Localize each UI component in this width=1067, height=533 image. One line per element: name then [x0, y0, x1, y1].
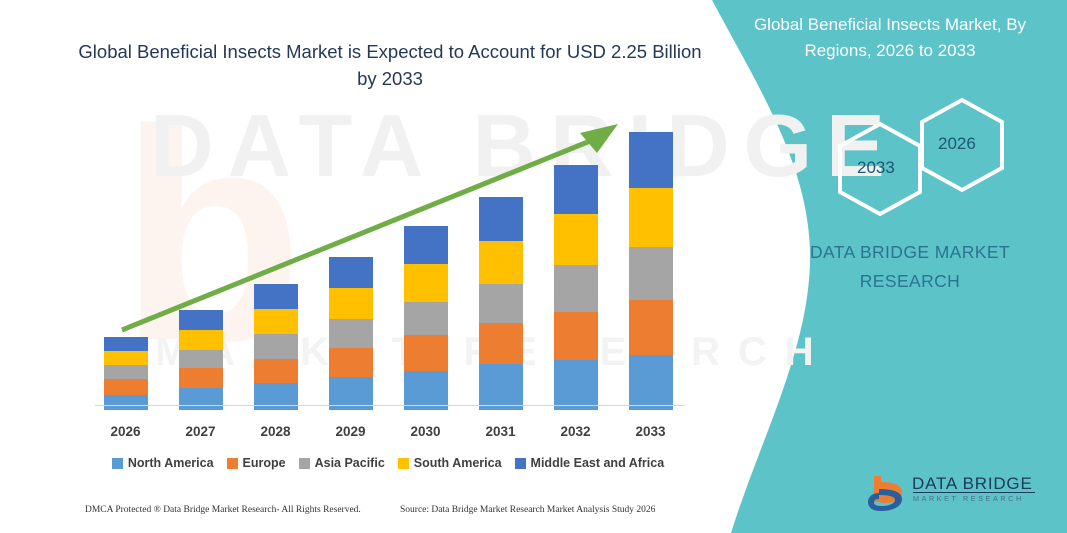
bar-segment — [629, 355, 673, 410]
bar-segment — [404, 302, 448, 336]
bar-segment — [104, 395, 148, 410]
bar-segment — [329, 288, 373, 319]
chart-legend: North AmericaEuropeAsia PacificSouth Ame… — [88, 456, 688, 470]
legend-item[interactable]: North America — [112, 456, 214, 470]
logo-title: DATA BRIDGE — [912, 474, 1033, 494]
bar-segment — [479, 284, 523, 323]
bar-segment — [104, 337, 148, 351]
legend-swatch-icon — [227, 458, 238, 469]
bar-segment — [554, 214, 598, 266]
bar-column — [479, 197, 523, 410]
bar-segment — [104, 379, 148, 394]
chart-axis-line — [95, 405, 685, 406]
legend-item[interactable]: Asia Pacific — [299, 456, 385, 470]
bar-segment — [104, 351, 148, 365]
bar-segment — [404, 226, 448, 264]
bar-segment — [404, 335, 448, 370]
bar-segment — [479, 364, 523, 410]
bar-column — [329, 257, 373, 410]
hexagon-shapes — [820, 96, 1040, 221]
bar-segment — [254, 309, 298, 334]
bar-segment — [329, 348, 373, 378]
bar-column — [179, 310, 223, 410]
x-axis-label: 2031 — [471, 424, 531, 439]
hexagon-label-2026: 2026 — [938, 134, 976, 154]
bar-column — [554, 165, 598, 411]
legend-label: Middle East and Africa — [531, 456, 665, 470]
legend-label: Europe — [243, 456, 286, 470]
bar-column — [629, 132, 673, 410]
infographic-canvas: b DATA BRIDGE MARKET RESEARCH Global Ben… — [0, 0, 1067, 533]
bar-segment — [179, 388, 223, 410]
company-logo: DATA BRIDGE MARKET RESEARCH — [866, 472, 1041, 518]
bar-segment — [554, 265, 598, 312]
footer: DMCA Protected ® Data Bridge Market Rese… — [0, 505, 710, 525]
bar-segment — [554, 312, 598, 359]
bar-segment — [179, 350, 223, 369]
bar-segment — [254, 284, 298, 309]
legend-label: North America — [128, 456, 214, 470]
logo-subtitle: MARKET RESEARCH — [913, 494, 1024, 503]
legend-item[interactable]: Middle East and Africa — [515, 456, 665, 470]
bar-segment — [179, 368, 223, 388]
x-axis-label: 2027 — [171, 424, 231, 439]
footer-source: Source: Data Bridge Market Research Mark… — [400, 505, 655, 515]
brand-line-1: DATA BRIDGE MARKET — [810, 242, 1010, 262]
bar-column — [404, 226, 448, 410]
legend-swatch-icon — [515, 458, 526, 469]
logo-divider — [913, 492, 1035, 493]
hexagon-group: 2026 2033 — [820, 96, 1040, 221]
bar-segment — [629, 300, 673, 355]
bar-column — [254, 284, 298, 410]
bar-segment — [629, 247, 673, 301]
page-title: Global Beneficial Insects Market is Expe… — [70, 38, 710, 92]
bar-segment — [329, 319, 373, 348]
bar-segment — [254, 334, 298, 358]
x-axis-label: 2029 — [321, 424, 381, 439]
legend-label: Asia Pacific — [315, 456, 385, 470]
bar-segment — [404, 264, 448, 301]
x-axis-label: 2030 — [396, 424, 456, 439]
hexagon-label-2033: 2033 — [857, 158, 895, 178]
legend-item[interactable]: Europe — [227, 456, 286, 470]
brand-line-2: RESEARCH — [860, 271, 960, 291]
x-axis-label: 2032 — [546, 424, 606, 439]
panel-title: Global Beneficial Insects Market, By Reg… — [735, 12, 1045, 64]
bar-segment — [254, 359, 298, 383]
brand-name: DATA BRIDGE MARKET RESEARCH — [770, 238, 1050, 296]
bar-segment — [479, 241, 523, 284]
bar-segment — [554, 165, 598, 214]
bar-segment — [554, 360, 598, 410]
legend-swatch-icon — [398, 458, 409, 469]
legend-swatch-icon — [299, 458, 310, 469]
bar-segment — [479, 323, 523, 364]
bar-segment — [329, 257, 373, 289]
footer-copyright: DMCA Protected ® Data Bridge Market Rese… — [85, 505, 361, 515]
bar-segment — [179, 330, 223, 350]
stacked-bar-chart — [88, 120, 688, 410]
x-axis-label: 2028 — [246, 424, 306, 439]
bar-segment — [629, 188, 673, 247]
x-axis-label: 2026 — [96, 424, 156, 439]
bar-segment — [104, 365, 148, 379]
legend-swatch-icon — [112, 458, 123, 469]
legend-label: South America — [414, 456, 502, 470]
legend-item[interactable]: South America — [398, 456, 502, 470]
bar-segment — [179, 310, 223, 330]
bar-column — [104, 337, 148, 410]
bar-segment — [629, 132, 673, 188]
chart-x-axis-labels: 20262027202820292030203120322033 — [88, 424, 688, 446]
bar-segment — [479, 197, 523, 241]
logo-mark-icon — [866, 472, 910, 516]
x-axis-label: 2033 — [621, 424, 681, 439]
